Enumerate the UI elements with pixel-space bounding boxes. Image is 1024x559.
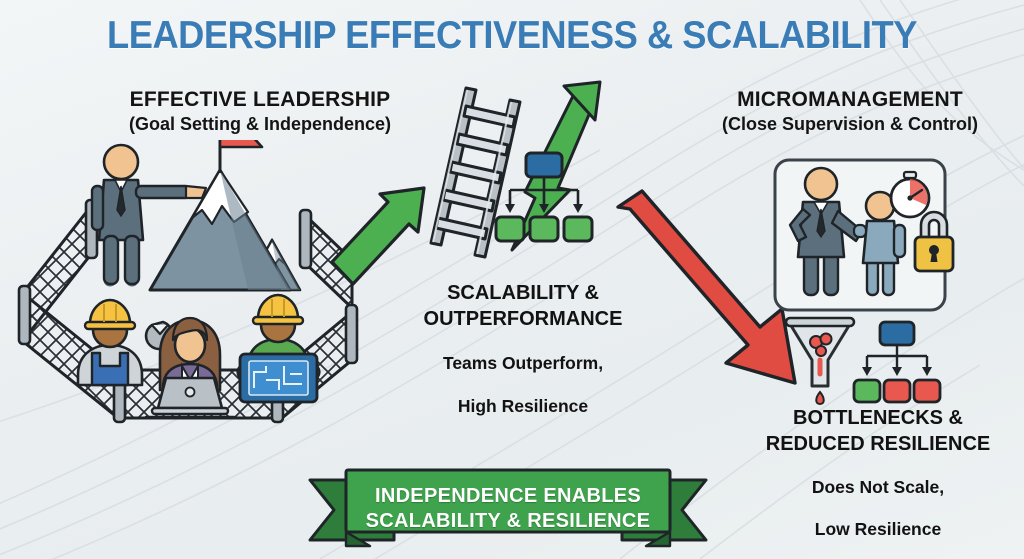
org-chart-blocked-icon <box>854 322 940 402</box>
ribbon-shape <box>308 462 708 554</box>
right-subheading-line: (Close Supervision & Control) <box>660 113 1024 136</box>
org-chart-healthy-icon <box>496 153 592 241</box>
right-caption-line1: Does Not Scale, <box>742 476 1014 499</box>
right-section-heading: MICROMANAGEMENT (Close Supervision & Con… <box>660 88 1024 136</box>
padlock-icon <box>915 212 953 271</box>
center-caption-line2: High Resilience <box>398 395 648 418</box>
infographic-canvas: LEADERSHIP EFFECTIVENESS & SCALABILITY E… <box>0 0 1024 559</box>
right-heading-line: MICROMANAGEMENT <box>660 88 1024 113</box>
page-title: LEADERSHIP EFFECTIVENESS & SCALABILITY <box>36 16 988 55</box>
green-up-arrow-icon <box>332 188 424 284</box>
right-result-line2: REDUCED RESILIENCE <box>742 432 1014 458</box>
funnel-clogged-icon <box>786 318 854 404</box>
bottleneck-illustration <box>782 312 962 412</box>
ribbon-band <box>346 470 670 532</box>
right-caption-line2: Low Resilience <box>742 518 1014 541</box>
summary-banner: INDEPENDENCE ENABLES SCALABILITY & RESIL… <box>308 462 708 554</box>
mountain-with-flag-icon <box>150 140 300 290</box>
effective-leadership-illustration <box>0 140 360 470</box>
scalability-illustration <box>320 80 620 300</box>
micromanagement-panel <box>770 155 990 315</box>
right-result-text: BOTTLENECKS & REDUCED RESILIENCE Does No… <box>742 406 1014 541</box>
